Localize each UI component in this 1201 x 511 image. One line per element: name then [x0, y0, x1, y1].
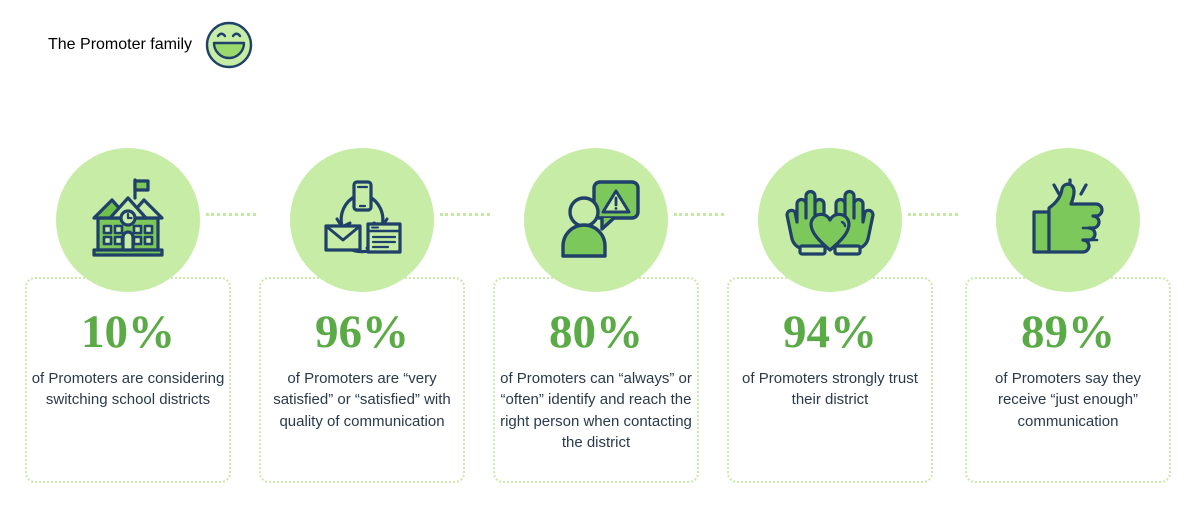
stat-label: of Promoters say they receive “just enou…	[967, 368, 1169, 432]
stat-label: of Promoters are “very satisfied” or “sa…	[261, 368, 463, 432]
school-building-icon	[82, 174, 174, 266]
icon-medallion	[56, 148, 200, 292]
stat-label: of Promoters strongly trust their distri…	[729, 368, 931, 411]
stat-label: of Promoters can “always” or “often” ide…	[495, 368, 697, 453]
smiley-face-icon	[204, 20, 254, 70]
stat-column-4: 94% of Promoters strongly trust their di…	[719, 140, 941, 500]
stats-row: 10% of Promoters are considering switchi…	[0, 140, 1201, 500]
person-speech-bubble-icon	[550, 174, 642, 266]
page-title: The Promoter family	[48, 36, 192, 54]
stat-card: 89% of Promoters say they receive “just …	[965, 277, 1171, 483]
icon-medallion	[524, 148, 668, 292]
communication-cycle-icon	[316, 174, 408, 266]
stat-card: 80% of Promoters can “always” or “often”…	[493, 277, 699, 483]
stat-value: 94%	[729, 309, 931, 356]
stat-value: 80%	[495, 309, 697, 356]
hands-heart-icon	[784, 174, 876, 266]
stat-value: 10%	[27, 309, 229, 356]
stat-card: 96% of Promoters are “very satisfied” or…	[259, 277, 465, 483]
stat-column-5: 89% of Promoters say they receive “just …	[957, 140, 1179, 500]
stat-card: 94% of Promoters strongly trust their di…	[727, 277, 933, 483]
thumbs-up-icon	[1022, 174, 1114, 266]
icon-medallion	[290, 148, 434, 292]
stat-label: of Promoters are considering switching s…	[27, 368, 229, 411]
stat-column-2: 96% of Promoters are “very satisfied” or…	[251, 140, 473, 500]
stat-column-3: 80% of Promoters can “always” or “often”…	[485, 140, 707, 500]
stat-card: 10% of Promoters are considering switchi…	[25, 277, 231, 483]
stat-value: 96%	[261, 309, 463, 356]
icon-medallion	[996, 148, 1140, 292]
icon-medallion	[758, 148, 902, 292]
stat-column-1: 10% of Promoters are considering switchi…	[17, 140, 239, 500]
header: The Promoter family	[48, 20, 254, 70]
stat-value: 89%	[967, 309, 1169, 356]
